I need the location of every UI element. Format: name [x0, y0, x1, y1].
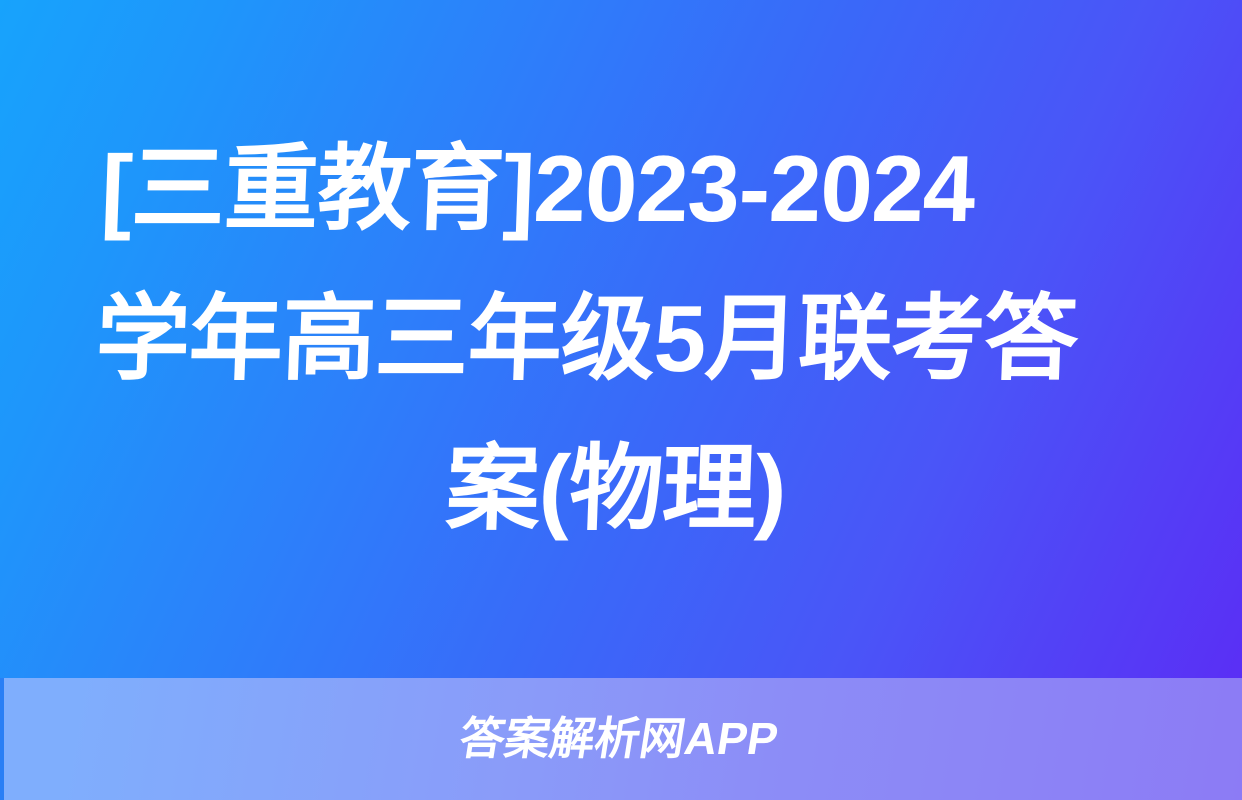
footer-text-wrap: 答案解析网APP: [0, 678, 1242, 800]
title-line-1: [三重教育]2023-2024: [99, 114, 1154, 264]
hero-banner: [三重教育]2023-2024 学年高三年级5月联考答 案(物理): [0, 0, 1242, 678]
title-line-3: 案(物理): [88, 414, 1143, 564]
app-brand-label: 答案解析网APP: [456, 714, 781, 764]
title-line-2: 学年高三年级5月联考答: [93, 264, 1148, 414]
footer-banner: 答案解析网APP: [0, 678, 1242, 800]
poster-container: [三重教育]2023-2024 学年高三年级5月联考答 案(物理) 答案解析网A…: [0, 0, 1242, 800]
page-title: [三重教育]2023-2024 学年高三年级5月联考答 案(物理): [0, 114, 1242, 564]
